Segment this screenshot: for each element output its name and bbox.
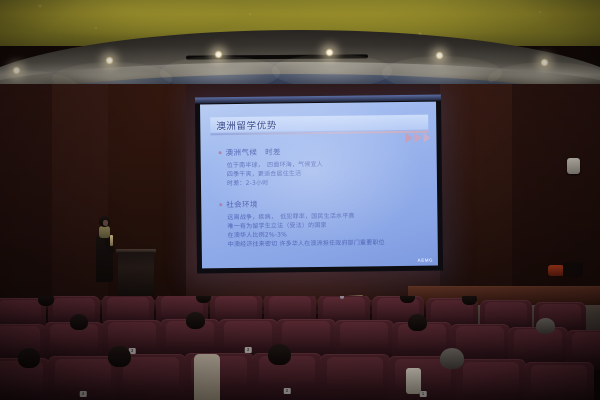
slide-section-society: 社会环境 远离战争，疾病， 低犯罪率，国民生活水平高 唯一有为留学生立法（受法）…: [219, 197, 426, 250]
seat-number: 4: [80, 391, 87, 397]
bullet-point-icon: [219, 151, 222, 154]
audience-head: [196, 296, 211, 303]
presenter-scarf: [99, 226, 110, 238]
wall-panel-left-1: [0, 84, 52, 314]
chevron-arrows-decoration: [405, 133, 430, 143]
chevron-right-icon-2: [414, 133, 421, 143]
table-row[interactable]: 4: [48, 356, 118, 400]
audience-head: [408, 314, 427, 331]
wall-panel-right-2: [512, 84, 600, 314]
slide-section-climate: 澳洲气候 时差 位于南半球， 四面环海，气候宜人 四季干爽，更适合居住生活 时差…: [219, 145, 425, 189]
audience-head: [38, 296, 54, 306]
microphone-icon: [110, 235, 113, 246]
audience-seating: 3 3 4 2 1: [0, 296, 600, 400]
slide-section-society-heading: 社会环境: [226, 199, 258, 210]
red-object: [548, 265, 564, 276]
table-row[interactable]: [524, 362, 594, 400]
audience-head: [108, 346, 131, 367]
downlight-5: [435, 51, 444, 60]
audience-head: [440, 348, 464, 369]
podium: [118, 252, 154, 296]
wall-mounted-sensor-icon: [567, 158, 580, 174]
slide-section-climate-line-3: 时差：2-3小时: [227, 177, 425, 188]
slide-body: 澳洲气候 时差 位于南半球， 四面环海，气候宜人 四季干爽，更适合居住生活 时差…: [219, 145, 426, 261]
seat-number: 2: [284, 388, 291, 394]
audience-bag: [406, 368, 421, 394]
chevron-right-icon-3: [423, 133, 430, 143]
downlight-4: [325, 48, 334, 57]
dark-object: [563, 262, 583, 277]
downlight-2: [105, 56, 114, 65]
slide-section-climate-heading: 澳洲气候 时差: [226, 146, 281, 158]
downlight-1: [12, 66, 21, 75]
audience-head: [536, 318, 555, 334]
wall-panel-right-1: [440, 84, 512, 314]
slide-title: 澳洲留学优势: [216, 118, 277, 133]
downlight-3: [214, 50, 223, 59]
bullet-point-icon: [219, 203, 222, 206]
projection-screen-frame: 澳洲留学优势 澳洲气候 时差 位于南半球， 四面环海，气候宜人 四季干爽，更适合…: [195, 95, 443, 274]
auditorium-scene: 澳洲留学优势 澳洲气候 时差 位于南半球， 四面环海，气候宜人 四季干爽，更适合…: [0, 0, 600, 400]
audience-head: [462, 296, 477, 305]
presenter: [95, 216, 115, 282]
audience-head: [268, 344, 291, 365]
audience-head: [70, 314, 88, 330]
slide-watermark: AEMG: [417, 258, 433, 263]
audience-head: [186, 312, 205, 329]
table-row[interactable]: [320, 354, 390, 400]
downlight-6: [540, 58, 549, 67]
audience-light-coat: [194, 354, 220, 400]
presenter-face: [103, 220, 108, 226]
table-row[interactable]: [456, 359, 526, 400]
slide-section-society-line-4: 中澳经济往来密切 许多华人在澳洲担任政府部门重要职位: [228, 238, 426, 249]
audience-head: [18, 348, 40, 368]
slide-section-society-head: 社会环境: [219, 197, 425, 211]
slide-section-climate-head: 澳洲气候 时差: [219, 145, 425, 159]
projected-slide: 澳洲留学优势 澳洲气候 时差 位于南半球， 四面环海，气候宜人 四季干爽，更适合…: [200, 102, 438, 269]
chevron-right-icon-1: [405, 133, 412, 143]
